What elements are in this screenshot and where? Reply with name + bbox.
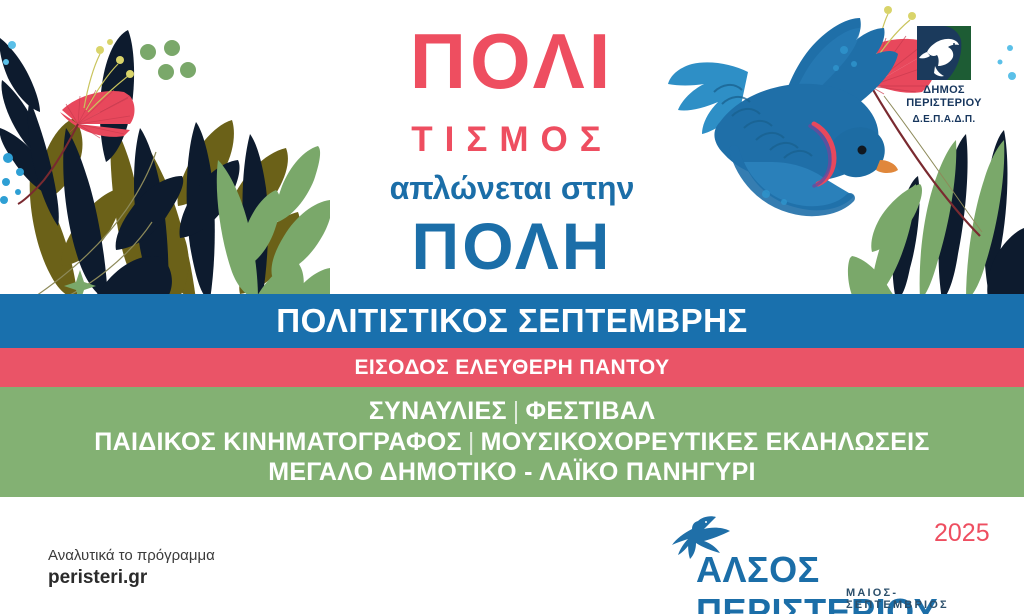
blue-band: ΠΟΛΙΤΙΣΤΙΚΟΣ ΣΕΠΤΕΜΒΡΗΣ xyxy=(0,294,1024,348)
red-band: ΕΙΣΟΔΟΣ ΕΛΕΥΘΕΡΗ ΠΑΝΤΟΥ xyxy=(0,348,1024,387)
green-band-line-1: ΣΥΝΑΥΛΙΕΣ|ΦΕΣΤΙΒΑΛ xyxy=(369,396,655,427)
footer: Αναλυτικά το πρόγραμμα peristeri.gr ΑΛΣΟ… xyxy=(0,497,1024,614)
headline-line-3: απλώνεται στην xyxy=(390,170,635,207)
headline-line-1: ΠΟΛΙ xyxy=(410,26,615,98)
poster-canvas: ΠΟΛΙ ΤΙΣΜΟΣ απλώνεται στην ΠΟΛΗ ΔΗΜΟΣ ΠΕ… xyxy=(0,0,1024,614)
muni-department: Δ.Ε.Π.Α.Δ.Π. xyxy=(890,114,998,125)
alsos-year: 2025 xyxy=(934,519,990,548)
alsos-season: ΜΑΙΟΣ-ΣΕΠΤΕΜΒΡΙΟΣ xyxy=(846,587,1000,611)
muni-name-line-1: ΔΗΜΟΣ xyxy=(923,84,965,96)
blue-band-text: ΠΟΛΙΤΙΣΤΙΚΟΣ ΣΕΠΤΕΜΒΡΗΣ xyxy=(276,302,748,340)
green-band: ΣΥΝΑΥΛΙΕΣ|ΦΕΣΤΙΒΑΛ ΠΑΙΔΙΚΟΣ ΚΙΝΗΜΑΤΟΓΡΑΦ… xyxy=(0,387,1024,497)
red-band-text: ΕΙΣΟΔΟΣ ΕΛΕΥΘΕΡΗ ΠΑΝΤΟΥ xyxy=(355,356,670,380)
municipality-logo: ΔΗΜΟΣ ΠΕΡΙΣΤΕΡΙΟΥ Δ.Ε.Π.Α.Δ.Π. xyxy=(890,26,998,125)
program-note-text: Αναλυτικά το πρόγραμμα xyxy=(48,547,215,564)
green-line-1-separator: | xyxy=(507,397,526,425)
headline-line-4: ΠΟΛΗ xyxy=(412,213,613,279)
green-line-2-left: ΠΑΙΔΙΚΟΣ ΚΙΝΗΜΑΤΟΓΡΑΦΟΣ xyxy=(94,428,462,456)
headline-block: ΠΟΛΙ ΤΙΣΜΟΣ απλώνεται στην ΠΟΛΗ xyxy=(0,0,1024,294)
green-line-3-left: ΜΕΓΑΛΟ ΔΗΜΟΤΙΚΟ - ΛΑΪΚΟ ΠΑΝΗΓΥΡΙ xyxy=(268,458,756,486)
green-line-2-right: ΜΟΥΣΙΚΟΧΟΡΕΥΤΙΚΕΣ ΕΚΔΗΛΩΣΕΙΣ xyxy=(481,428,930,456)
dove-in-square-logo-icon xyxy=(917,26,971,80)
muni-name-line-2: ΠΕΡΙΣΤΕΡΙΟΥ xyxy=(906,97,982,109)
website-link[interactable]: peristeri.gr xyxy=(48,567,215,589)
green-line-2-separator: | xyxy=(462,428,481,456)
green-band-line-2: ΠΑΙΔΙΚΟΣ ΚΙΝΗΜΑΤΟΓΡΑΦΟΣ|ΜΟΥΣΙΚΟΧΟΡΕΥΤΙΚΕ… xyxy=(94,427,929,458)
alsos-peristeriou-logo: ΑΛΣΟΣ ΠΕΡΙΣΤΕΡΙΟΥ 2025 ΜΑΙΟΣ-ΣΕΠΤΕΜΒΡΙΟΣ xyxy=(660,513,1000,599)
green-line-1-right: ΦΕΣΤΙΒΑΛ xyxy=(526,397,656,425)
green-band-line-3: ΜΕΓΑΛΟ ΔΗΜΟΤΙΚΟ - ΛΑΪΚΟ ΠΑΝΗΓΥΡΙ xyxy=(268,457,756,488)
headline-line-2: ΤΙΣΜΟΣ xyxy=(411,120,613,160)
program-note-block: Αναλυτικά το πρόγραμμα peristeri.gr xyxy=(48,547,215,589)
green-line-1-left: ΣΥΝΑΥΛΙΕΣ xyxy=(369,397,507,425)
